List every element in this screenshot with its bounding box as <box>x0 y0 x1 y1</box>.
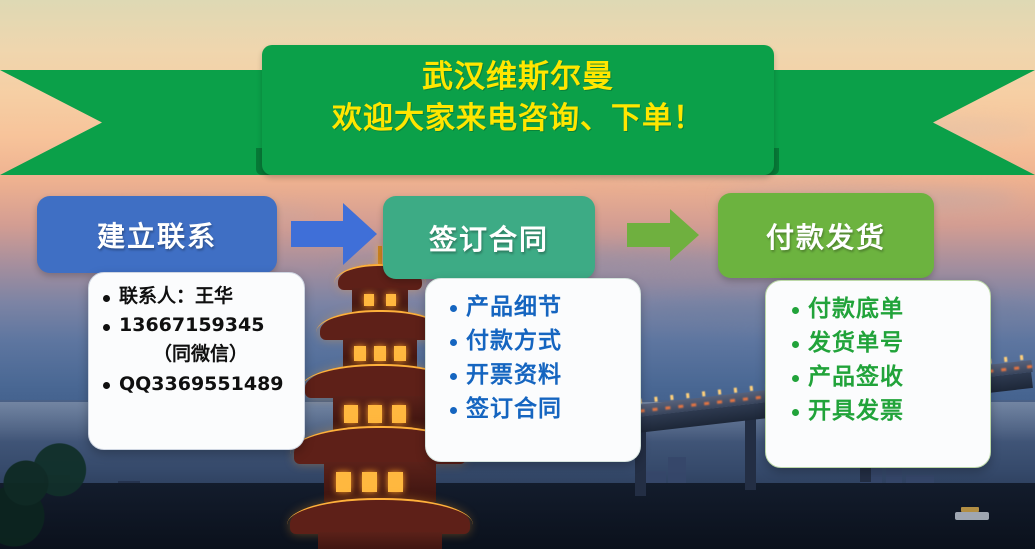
list-item: 产品细节 <box>466 293 630 321</box>
list-item: 开票资料 <box>466 361 630 389</box>
step-2-card: 产品细节 付款方式 开票资料 签订合同 <box>425 278 641 462</box>
list-item: 付款底单 <box>808 295 980 323</box>
step-2-header[interactable]: 签订合同 <box>383 196 595 279</box>
banner-title: 武汉维斯尔曼 欢迎大家来电咨询、下单！ <box>262 57 774 139</box>
list-item: 签订合同 <box>466 395 630 423</box>
list-item: 付款方式 <box>466 327 630 355</box>
step-1-header[interactable]: 建立联系 <box>37 196 277 273</box>
ribbon-tail-left <box>0 70 300 175</box>
foreground-tree <box>0 439 110 549</box>
list-item: 发货单号 <box>808 329 980 357</box>
step-3-card: 付款底单 发货单号 产品签收 开具发票 <box>765 280 991 468</box>
list-item: 联系人：王华 <box>119 285 294 308</box>
arrow-step1-to-step2-icon <box>291 203 377 265</box>
step-1-card: 联系人：王华 13667159345 （同微信） QQ3369551489 <box>88 272 305 450</box>
list-item: 开具发票 <box>808 397 980 425</box>
step-1-header-label: 建立联系 <box>97 215 217 255</box>
step-3-list: 付款底单 发货单号 产品签收 开具发票 <box>766 281 990 425</box>
list-item: 产品签收 <box>808 363 980 391</box>
step-2-list: 产品细节 付款方式 开票资料 签订合同 <box>426 279 640 423</box>
step-3-header-label: 付款发货 <box>766 216 886 256</box>
arrow-step2-to-step3-icon <box>627 209 699 261</box>
step-3-header[interactable]: 付款发货 <box>718 193 934 278</box>
list-item: （同微信） <box>119 343 294 366</box>
banner-title-line1: 武汉维斯尔曼 <box>422 59 614 95</box>
step-1-list: 联系人：王华 13667159345 （同微信） QQ3369551489 <box>89 273 304 396</box>
ribbon-tail-right <box>735 70 1035 175</box>
list-item: QQ3369551489 <box>119 373 294 396</box>
list-item: 13667159345 <box>119 314 294 337</box>
ribbon-banner: 武汉维斯尔曼 欢迎大家来电咨询、下单！ <box>0 0 1035 185</box>
banner-title-line2: 欢迎大家来电咨询、下单！ <box>262 99 774 140</box>
ribbon-panel: 武汉维斯尔曼 欢迎大家来电咨询、下单！ <box>262 45 774 175</box>
boat <box>955 512 989 520</box>
step-2-header-label: 签订合同 <box>429 218 549 258</box>
promotional-poster: 武汉维斯尔曼 欢迎大家来电咨询、下单！ 建立联系 联系人：王华 13667159… <box>0 0 1035 549</box>
